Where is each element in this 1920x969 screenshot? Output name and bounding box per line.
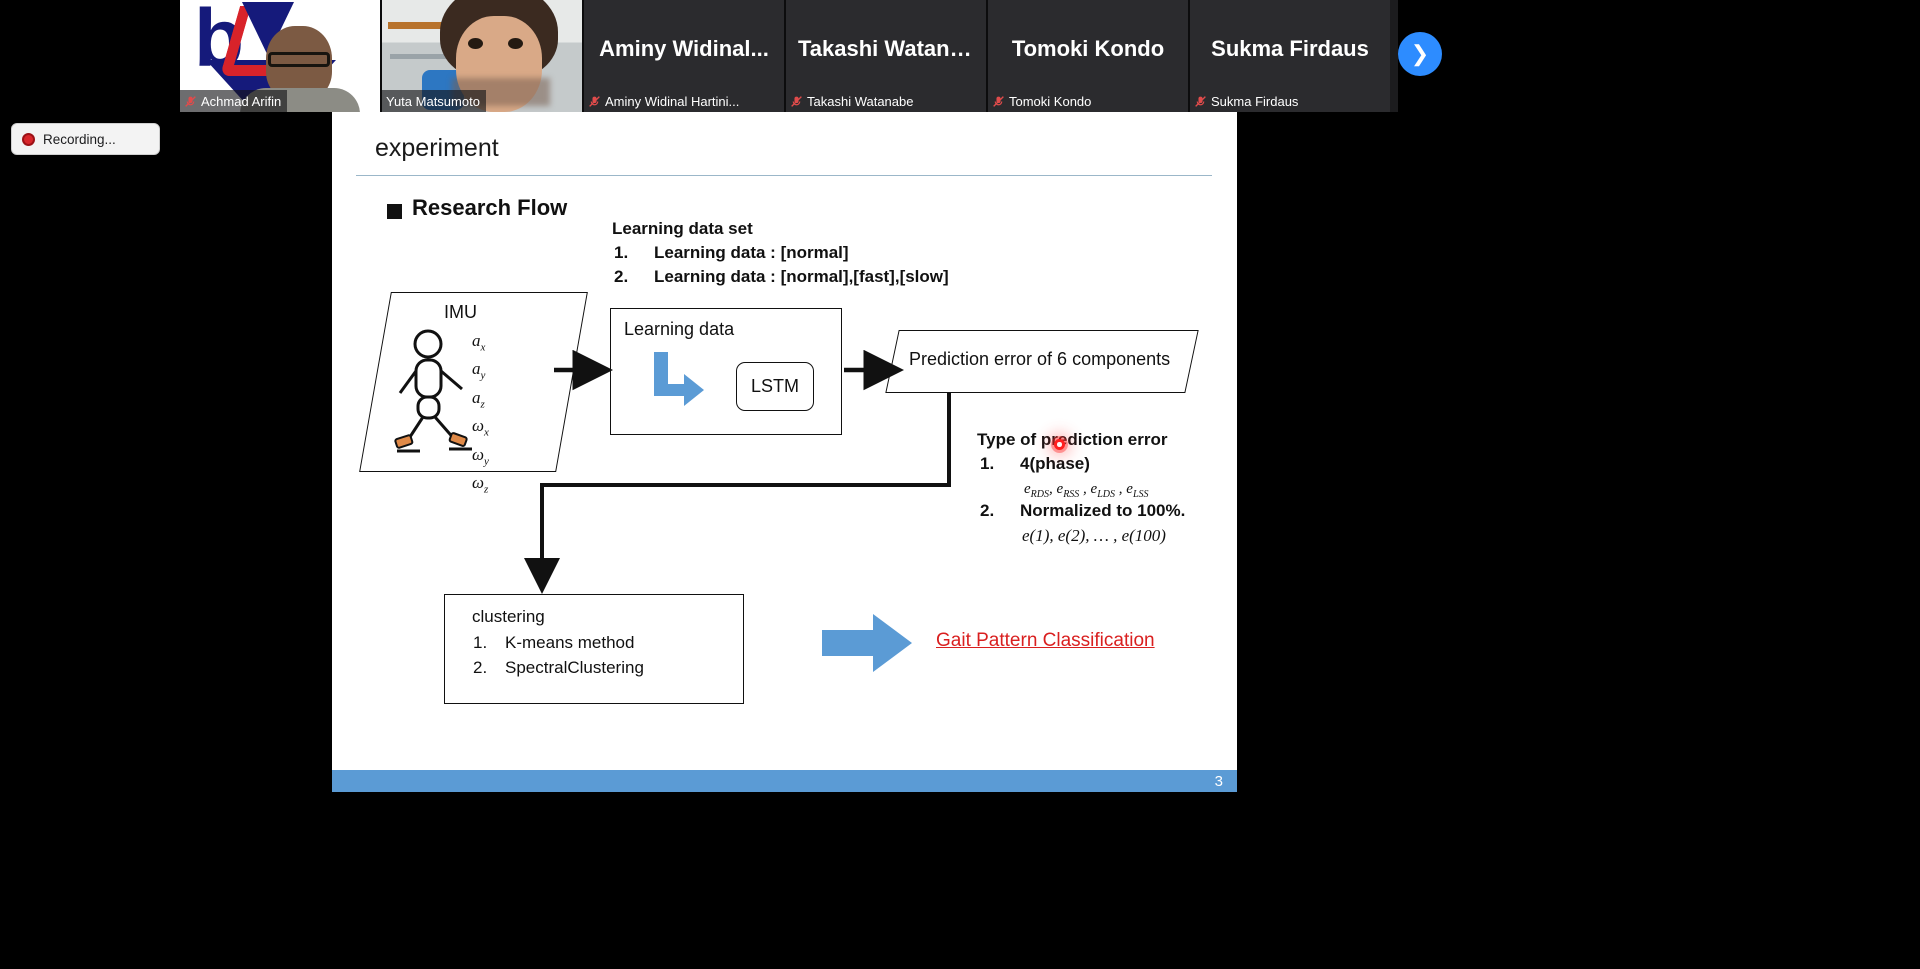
list-text: SpectralClustering [505, 658, 644, 677]
gait-pattern-classification-link[interactable]: Gait Pattern Classification [936, 630, 1155, 652]
list-number: 1. [614, 243, 654, 263]
list-number: 2. [980, 501, 1020, 521]
participant-name-text: Sukma Firdaus [1211, 94, 1298, 109]
prediction-error-label: Prediction error of 6 components [909, 349, 1170, 370]
participant-eye-right [508, 38, 523, 49]
filmstrip-next-button[interactable]: ❯ [1398, 32, 1442, 76]
list-number: 1. [980, 454, 1020, 474]
participant-initials-name: Takashi Watana... [788, 36, 984, 62]
clustering-heading: clustering [472, 607, 545, 627]
participant-name-text: Takashi Watanabe [807, 94, 913, 109]
participant-name-label: Tomoki Kondo [988, 90, 1097, 112]
learning-data-box-label: Learning data [624, 319, 734, 340]
participant-tile-yuta-matsumoto[interactable]: Yuta Matsumoto [382, 0, 582, 112]
learning-data-set-item-2: 2.Learning data : [normal],[fast],[slow] [614, 267, 949, 287]
participant-filmstrip: b Achmad Arifin [180, 0, 1398, 112]
list-text: 4(phase) [1020, 454, 1090, 473]
learning-data-set-heading: Learning data set [612, 219, 753, 239]
participant-tile-takashi-watanabe[interactable]: Takashi Watana... Takashi Watanabe [786, 0, 986, 112]
list-number: 2. [473, 658, 505, 678]
participant-tile-tomoki-kondo[interactable]: Tomoki Kondo Tomoki Kondo [988, 0, 1188, 112]
slide-page-number: 3 [1215, 773, 1223, 790]
participant-name-text: Achmad Arifin [201, 94, 281, 109]
participant-name-text: Tomoki Kondo [1009, 94, 1091, 109]
chevron-right-icon: ❯ [1411, 41, 1429, 67]
slide-title: experiment [375, 134, 499, 163]
mic-muted-icon [1194, 95, 1207, 108]
participant-name-label: Yuta Matsumoto [382, 90, 486, 112]
prediction-error-formula-normalized: e(1), e(2), … , e(100) [1022, 526, 1166, 546]
lstm-node: LSTM [736, 362, 814, 411]
section-heading: Research Flow [412, 195, 567, 221]
participant-name-label: Takashi Watanabe [786, 90, 919, 112]
learning-data-set-item-1: 1.Learning data : [normal] [614, 243, 849, 263]
participant-eye-left [468, 38, 483, 49]
recording-indicator[interactable]: Recording... [11, 123, 160, 155]
imu-var-wz: ωz [472, 472, 489, 500]
mic-muted-icon [588, 95, 601, 108]
mic-muted-icon [992, 95, 1005, 108]
screen-share-stage: experiment Research Flow Learning data s… [180, 112, 1388, 792]
title-divider [356, 175, 1212, 176]
list-text: K-means method [505, 633, 634, 652]
participant-name-text: Aminy Widinal Hartini... [605, 94, 739, 109]
list-text: Normalized to 100%. [1020, 501, 1185, 520]
participant-name-text: Yuta Matsumoto [386, 94, 480, 109]
screen-root: b Achmad Arifin [0, 0, 1920, 969]
participant-name-label: Sukma Firdaus [1190, 90, 1304, 112]
walking-person-figure-icon [394, 327, 484, 457]
slide-footer-bar: 3 [332, 770, 1237, 792]
list-number: 1. [473, 633, 505, 653]
clustering-item-2: 2.SpectralClustering [473, 658, 644, 678]
square-bullet-icon [387, 204, 402, 219]
recording-label: Recording... [43, 132, 116, 147]
type-of-prediction-error-item-1: 1.4(phase) [980, 454, 1090, 474]
participant-initials-name: Sukma Firdaus [1201, 36, 1379, 62]
type-of-prediction-error-heading: Type of prediction error [977, 430, 1168, 450]
participant-name-label: Aminy Widinal Hartini... [584, 90, 745, 112]
type-of-prediction-error-item-2: 2.Normalized to 100%. [980, 501, 1185, 521]
participant-tile-aminy-widinal-hartini[interactable]: Aminy Widinal... Aminy Widinal Hartini..… [584, 0, 784, 112]
prediction-error-formula-phases: eRDS, eRSS , eLDS , eLSS [1024, 481, 1149, 500]
list-text: Learning data : [normal] [654, 243, 849, 262]
mic-muted-icon [790, 95, 803, 108]
presentation-slide: experiment Research Flow Learning data s… [332, 112, 1237, 792]
clustering-item-1: 1.K-means method [473, 633, 634, 653]
participant-tile-sukma-firdaus[interactable]: Sukma Firdaus Sukma Firdaus [1190, 0, 1390, 112]
participant-tile-achmad-arifin[interactable]: b Achmad Arifin [180, 0, 380, 112]
imu-label: IMU [444, 302, 477, 323]
participant-initials-name: Tomoki Kondo [1002, 36, 1174, 62]
laser-pointer-dot [1054, 439, 1065, 450]
mic-muted-icon [184, 95, 197, 108]
list-text: Learning data : [normal],[fast],[slow] [654, 267, 949, 286]
list-number: 2. [614, 267, 654, 287]
glasses-icon [268, 52, 330, 67]
participant-initials-name: Aminy Widinal... [589, 36, 779, 62]
participant-name-label: Achmad Arifin [180, 90, 287, 112]
record-dot-icon [22, 133, 35, 146]
blue-result-arrow-icon [822, 614, 912, 672]
